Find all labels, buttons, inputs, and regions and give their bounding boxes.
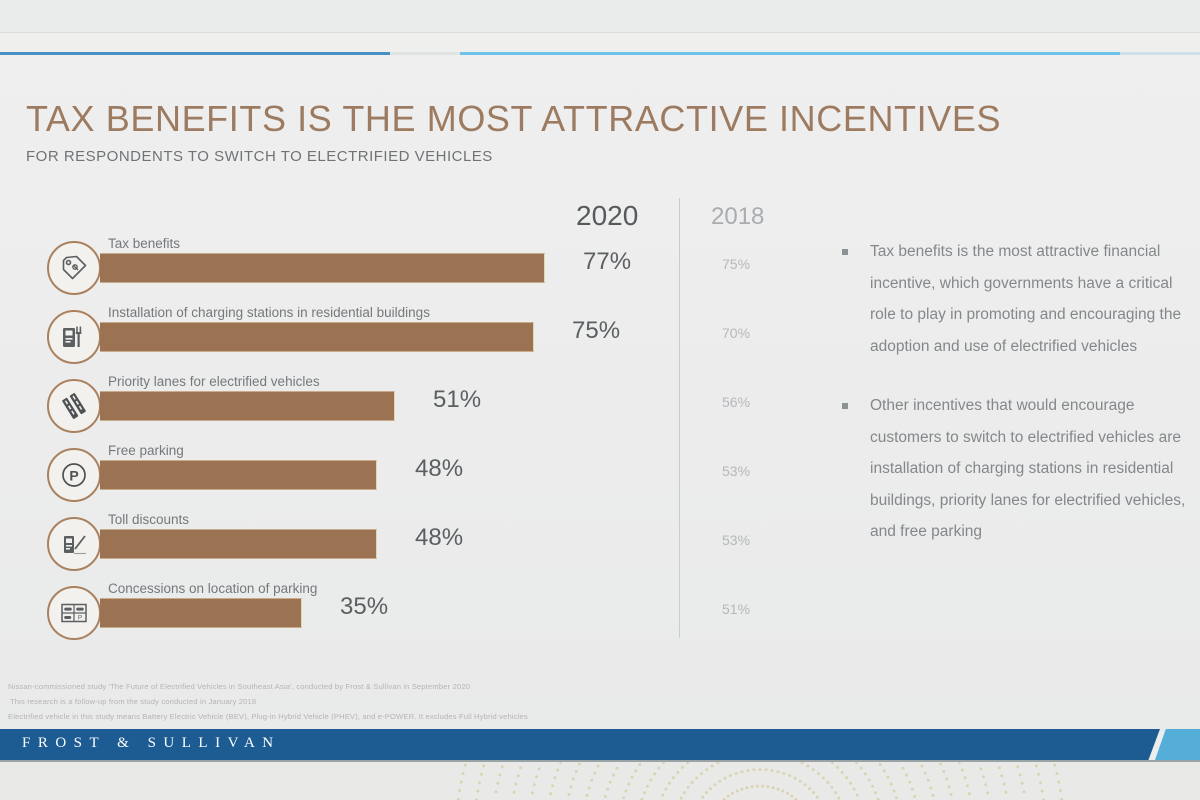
chart-value-2018: 53% (722, 463, 750, 479)
chart-bar (100, 529, 377, 559)
insight-bullet-item: Tax benefits is the most attractive fina… (836, 236, 1186, 362)
chart-bar (100, 322, 534, 352)
insight-text: Other incentives that would encourage cu… (870, 397, 1185, 540)
charging-station-icon (47, 310, 101, 364)
svg-text:P: P (69, 468, 78, 484)
bullet-square-icon (842, 403, 848, 409)
parking-sign-icon: P (47, 448, 101, 502)
decorative-dot-pattern (0, 762, 1200, 800)
chart-value-2020: 51% (433, 386, 481, 414)
banner-segment-light (1155, 729, 1200, 760)
road-lanes-icon (47, 379, 101, 433)
insights-panel: Tax benefits is the most attractive fina… (836, 236, 1186, 576)
chart-value-2018: 51% (722, 601, 750, 617)
chart-value-2018: 56% (722, 394, 750, 410)
chart-row-label: Installation of charging stations in res… (108, 305, 430, 320)
chart-bar (100, 253, 545, 283)
incentives-bar-chart: Tax benefits77%75%Installation of chargi… (0, 0, 820, 676)
insight-text: Tax benefits is the most attractive fina… (870, 243, 1181, 355)
chart-bar (100, 460, 377, 490)
chart-row: Toll discounts48%53% (0, 512, 820, 582)
insight-bullet-item: Other incentives that would encourage cu… (836, 390, 1186, 548)
chart-value-2018: 53% (722, 532, 750, 548)
chart-value-2020: 48% (415, 455, 463, 483)
chart-row: PConcessions on location of parking35%51… (0, 581, 820, 651)
chart-row-label: Toll discounts (108, 512, 189, 527)
chart-value-2020: 48% (415, 524, 463, 552)
price-tag-icon (47, 241, 101, 295)
chart-row: Priority lanes for electrified vehicles5… (0, 374, 820, 444)
slide-canvas: TAX BENEFITS IS THE MOST ATTRACTIVE INCE… (0, 0, 1200, 800)
toll-booth-icon (47, 517, 101, 571)
chart-row-label: Concessions on location of parking (108, 581, 317, 596)
chart-row-label: Tax benefits (108, 236, 180, 251)
chart-bar (100, 391, 395, 421)
dot-pattern-icon (0, 762, 1200, 800)
chart-row-label: Priority lanes for electrified vehicles (108, 374, 320, 389)
chart-value-2020: 75% (572, 317, 620, 345)
footnote-2: This research is a follow-up from the st… (10, 697, 256, 706)
footnote-3: Electrified vehicle in this study means … (8, 712, 528, 721)
chart-value-2020: 35% (340, 593, 388, 621)
svg-text:P: P (78, 614, 82, 621)
chart-row: Installation of charging stations in res… (0, 305, 820, 375)
frost-sullivan-logo: FROST & SULLIVAN (22, 735, 281, 752)
chart-value-2018: 70% (722, 325, 750, 341)
chart-value-2020: 77% (583, 248, 631, 276)
chart-row: Tax benefits77%75% (0, 236, 820, 306)
chart-value-2018: 75% (722, 256, 750, 272)
footnote-1: Nissan-commissioned study 'The Future of… (8, 682, 470, 691)
parking-lot-icon: P (47, 586, 101, 640)
bullet-square-icon (842, 249, 848, 255)
chart-bar (100, 598, 302, 628)
chart-row: PFree parking48%53% (0, 443, 820, 513)
chart-row-label: Free parking (108, 443, 184, 458)
